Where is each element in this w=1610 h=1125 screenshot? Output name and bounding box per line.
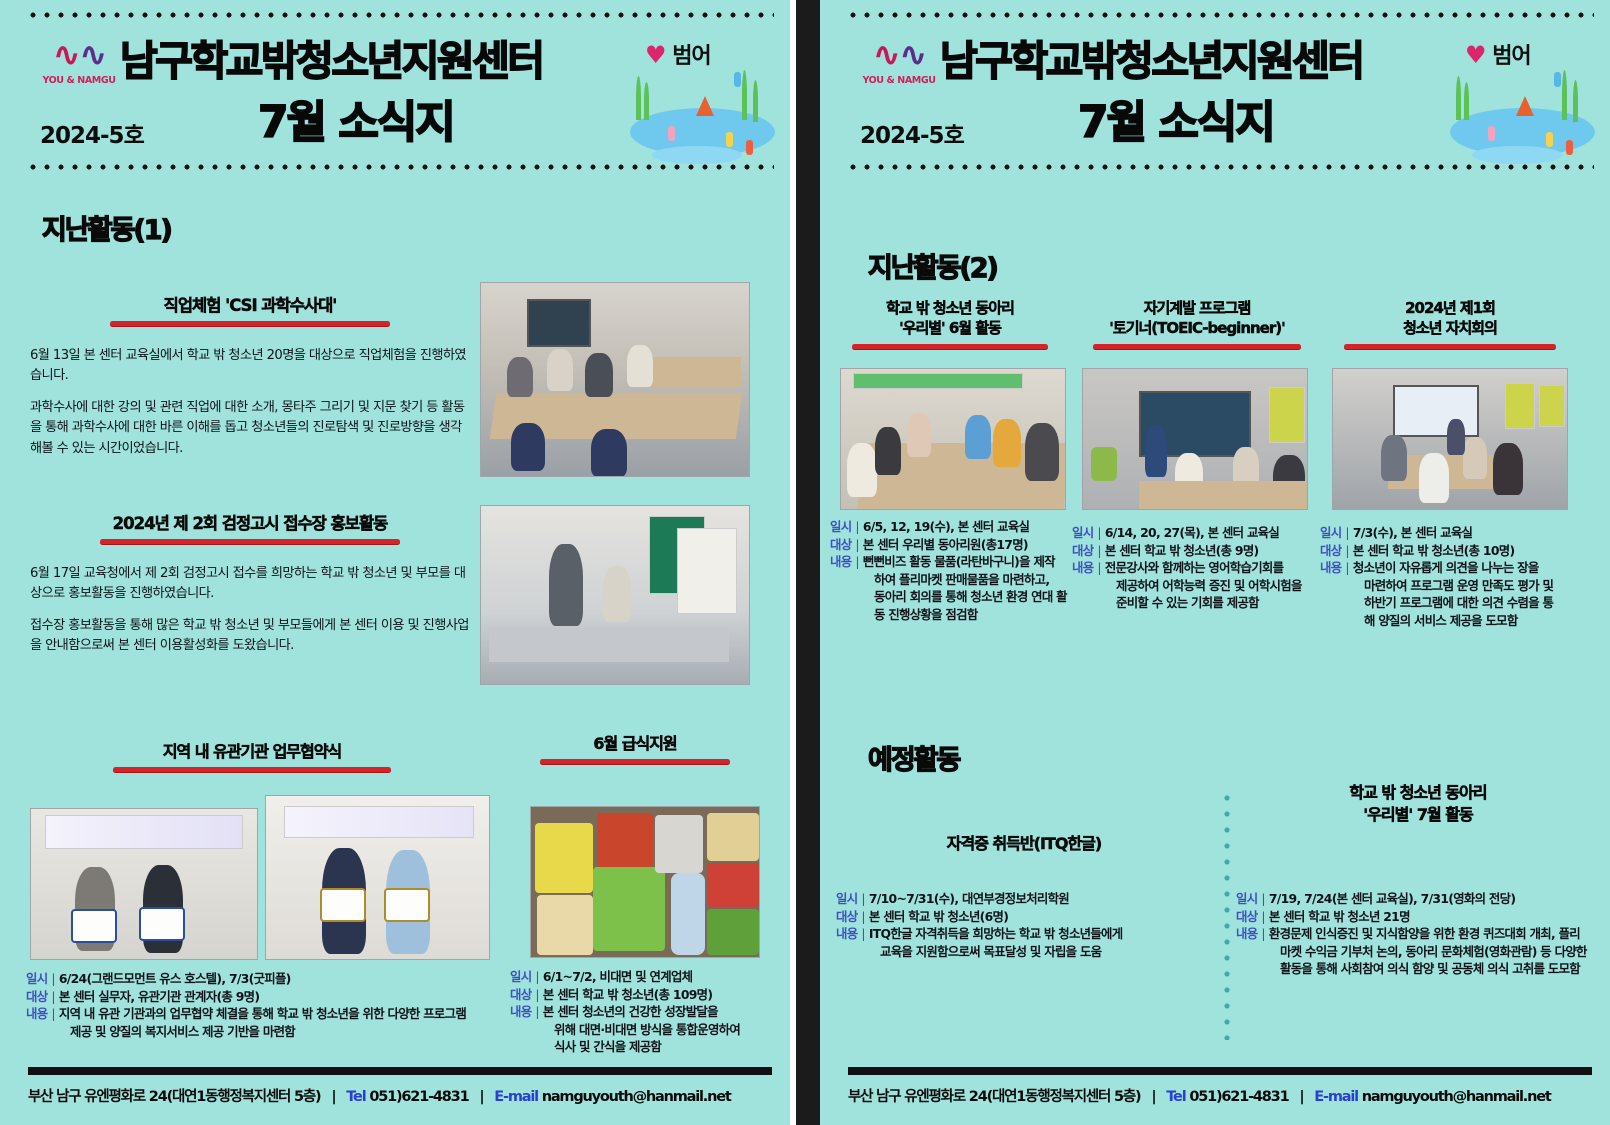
- card-title-line2: 청소년 자치회의: [1320, 318, 1580, 338]
- photo-water-bottle: [671, 873, 705, 955]
- detail-separator: |: [1261, 925, 1264, 943]
- swimmer-icon: [746, 140, 753, 155]
- photo-chair: [1091, 447, 1117, 481]
- logo-subtitle: YOU & NAMGU: [36, 75, 122, 86]
- detail-row-target: 대상 | 본 센터 학교 밖 청소년(6명): [836, 908, 1228, 926]
- detail-content-line: 해 양질의 서비스 제공을 도모함: [1320, 612, 1588, 630]
- past-card-3-photo: [1332, 368, 1568, 510]
- photo-person: [1025, 423, 1059, 481]
- detail-separator: |: [1097, 542, 1100, 560]
- meal-detail: 일시 | 6/1~7/2, 비대면 및 연계업체 대상 | 본 센터 학교 밖 …: [510, 968, 780, 1056]
- detail-row-date: 일시 | 7/19, 7/24(본 센터 교육실), 7/31(영화의 전당): [1236, 890, 1602, 908]
- title-underline: [852, 344, 1048, 349]
- issue-number: 2024-5호: [40, 116, 144, 150]
- section-label-past-activities-2: 지난활동(2): [868, 246, 997, 285]
- article-photo-csi: [480, 282, 750, 477]
- detail-row-date: 일시 | 7/10~7/31(수), 대연부경정보처리학원: [836, 890, 1228, 908]
- past-card-1-photo: [840, 368, 1066, 510]
- detail-key-target: 대상: [1072, 542, 1093, 560]
- past-card-1: 학교 밖 청소년 동아리 '우리별' 6월 활동: [830, 298, 1070, 349]
- card-title: 2024년 제1회 청소년 자치회의: [1320, 298, 1580, 339]
- footer-tel: 051)621-4831: [369, 1089, 468, 1105]
- detail-key-target: 대상: [26, 988, 47, 1006]
- header-dotted-line-top: [846, 12, 1594, 18]
- footer-separator: |: [331, 1089, 335, 1105]
- detail-separator: |: [855, 518, 858, 536]
- article-title: 직업체험 'CSI 과학수사대': [30, 292, 470, 316]
- left-header: ∿∿ YOU & NAMGU 남구학교밖청소년지원센터 7월 소식지 ♥ 범어 …: [0, 0, 790, 196]
- article-paragraph: 6월 17일 교육청에서 제 2회 검정고시 접수를 희망하는 학교 밖 청소년…: [30, 564, 470, 605]
- title-underline: [1093, 344, 1301, 349]
- swimmer-icon: [734, 72, 741, 87]
- photo-person: [1145, 425, 1167, 477]
- detail-separator: |: [51, 988, 54, 1006]
- photo-table: [489, 628, 729, 662]
- grass-icon: [1456, 76, 1461, 120]
- detail-content-line: 하반기 프로그램에 대한 의견 수렴을 통: [1320, 594, 1588, 612]
- detail-row-target: 대상 | 본 센터 학교 밖 청소년(총 109명): [510, 986, 780, 1004]
- card-title-line1: 2024년 제1회: [1320, 298, 1580, 318]
- sailboat-icon: [696, 96, 714, 116]
- photo-person: [549, 544, 583, 626]
- detail-key-content: 내용: [1236, 925, 1257, 943]
- past-card-3: 2024년 제1회 청소년 자치회의: [1320, 298, 1580, 349]
- footer-address: 부산 남구 유엔평화로 24(대연1동행정복지센터 5층): [28, 1089, 320, 1105]
- upcoming-card-2-detail: 일시 | 7/19, 7/24(본 센터 교육실), 7/31(영화의 전당) …: [1236, 890, 1602, 978]
- past-card-2-photo: [1082, 368, 1308, 510]
- detail-separator: |: [1345, 559, 1348, 577]
- card-title: 학교 밖 청소년 동아리 '우리별' 7월 활동: [1240, 782, 1596, 827]
- photo-person: [627, 345, 653, 387]
- detail-row-content: 내용 | 지역 내 유관 기관과의 업무협약 체결을 통해 학교 밖 청소년을 …: [26, 1005, 496, 1023]
- card-title-line2: '우리별' 7월 활동: [1240, 804, 1596, 826]
- detail-value-date: 6/14, 20, 27(목), 본 센터 교육실: [1105, 524, 1279, 542]
- detail-value-target: 본 센터 실무자, 유관기관 관계자(총 9명): [59, 988, 259, 1006]
- card-title: 학교 밖 청소년 동아리 '우리별' 6월 활동: [830, 298, 1070, 339]
- photo-food-item: [707, 863, 759, 907]
- photo-blinds: [1269, 387, 1305, 443]
- detail-separator: |: [861, 925, 864, 943]
- block-title: 지역 내 유관기관 업무협약식: [26, 738, 478, 762]
- detail-value-date: 7/3(수), 본 센터 교육실: [1353, 524, 1472, 542]
- article-gomjung: 2024년 제 2회 검정고시 접수장 홍보활동 6월 17일 교육청에서 제 …: [30, 510, 470, 657]
- photo-banner: [45, 815, 243, 849]
- photo-person: [585, 353, 613, 397]
- sailboat-icon: [1516, 96, 1534, 116]
- upcoming-card-2: 학교 밖 청소년 동아리 '우리별' 7월 활동: [1240, 782, 1596, 827]
- photo-person: [1447, 419, 1465, 455]
- right-footer: 부산 남구 유엔평화로 24(대연1동행정복지센터 5층) | Tel 051)…: [820, 1063, 1610, 1125]
- footer-contact: 부산 남구 유엔평화로 24(대연1동행정복지센터 5층) | Tel 051)…: [848, 1085, 1551, 1106]
- detail-row-target: 대상 | 본 센터 학교 밖 청소년 21명: [1236, 908, 1602, 926]
- article-paragraph: 접수장 홍보활동을 통해 많은 학교 밖 청소년 및 부모들에게 본 센터 이용…: [30, 616, 470, 657]
- detail-separator: |: [1345, 524, 1348, 542]
- article-body: 6월 17일 교육청에서 제 2회 검정고시 접수를 희망하는 학교 밖 청소년…: [30, 564, 470, 657]
- detail-separator: |: [535, 1003, 538, 1021]
- photo-person: [1419, 453, 1449, 503]
- photo-certificate: [320, 888, 366, 922]
- photo-table: [1139, 481, 1308, 510]
- detail-row-content: 내용 | 전문강사와 함께하는 영어학습기회를: [1072, 559, 1324, 577]
- detail-value-content: 뻔뻔비즈 활동 물품(라탄바구니)을 제작: [863, 553, 1055, 571]
- footer-email-label: E-mail: [494, 1089, 538, 1105]
- detail-key-date: 일시: [1320, 524, 1341, 542]
- detail-value-content: ITQ한글 자격취득을 희망하는 학교 밖 청소년들에게: [869, 925, 1123, 943]
- grass-icon: [644, 82, 649, 120]
- detail-content-line: 위해 대면·비대면 방식을 통합운영하여: [510, 1021, 780, 1039]
- photo-food-item: [535, 823, 593, 893]
- page-gutter: [796, 0, 820, 1125]
- right-header: ∿∿ YOU & NAMGU 남구학교밖청소년지원센터 7월 소식지 ♥ 범어 …: [820, 0, 1610, 196]
- meal-photo: [530, 806, 760, 958]
- photo-person: [603, 566, 631, 622]
- right-page: ∿∿ YOU & NAMGU 남구학교밖청소년지원센터 7월 소식지 ♥ 범어 …: [820, 0, 1610, 1125]
- footer-rule: [848, 1067, 1592, 1075]
- detail-separator: |: [535, 986, 538, 1004]
- detail-key-target: 대상: [830, 536, 851, 554]
- detail-value-target: 본 센터 학교 밖 청소년(총 10명): [1353, 542, 1515, 560]
- detail-row-content: 내용 | 환경문제 인식증진 및 지식함양을 위한 환경 퀴즈대회 개최, 플리: [1236, 925, 1602, 943]
- mou-photo-2: [265, 795, 490, 960]
- vertical-dotted-divider: [1224, 790, 1230, 1040]
- section-label-past-activities-1: 지난활동(1): [42, 208, 171, 247]
- detail-value-target: 본 센터 우리별 동아리원(총17명): [863, 536, 1028, 554]
- title-underline: [100, 539, 400, 544]
- detail-content-line: 마켓 수익금 기부처 논의, 동아리 문화체험(영화관람) 등 다양한: [1236, 943, 1602, 961]
- issue-number: 2024-5호: [860, 116, 964, 150]
- grass-icon: [1562, 70, 1567, 120]
- detail-key-content: 내용: [1072, 559, 1093, 577]
- logo-mark-icon: ∿∿: [856, 38, 942, 72]
- title-underline: [540, 759, 730, 764]
- detail-separator: |: [51, 1005, 54, 1023]
- photo-banner: [853, 373, 1023, 389]
- title-underline: [110, 321, 390, 326]
- grass-icon: [636, 76, 641, 120]
- detail-content-line: 교육을 지원함으로써 목표달성 및 자립을 도움: [836, 943, 1228, 961]
- photo-food-item: [593, 867, 665, 951]
- pond-shape-small: [652, 146, 742, 164]
- detail-key-content: 내용: [836, 925, 857, 943]
- footer-separator: |: [1299, 1089, 1303, 1105]
- mou-photo-1: [30, 808, 258, 960]
- detail-value-date: 6/1~7/2, 비대면 및 연계업체: [543, 968, 692, 986]
- article-paragraph: 6월 13일 본 센터 교육실에서 학교 밖 청소년 20명을 대상으로 직업체…: [30, 346, 470, 387]
- footer-email: namguyouth@hanmail.net: [1362, 1089, 1551, 1105]
- title-underline: [113, 767, 391, 772]
- detail-key-content: 내용: [1320, 559, 1341, 577]
- detail-row-content: 내용 | 뻔뻔비즈 활동 물품(라탄바구니)을 제작: [830, 553, 1080, 571]
- detail-row-target: 대상 | 본 센터 학교 밖 청소년(총 10명): [1320, 542, 1588, 560]
- swimmer-icon: [1488, 126, 1495, 141]
- grass-icon: [742, 70, 747, 120]
- photo-food-item: [707, 909, 759, 955]
- detail-content-line: 식사 및 간식을 제공함: [510, 1038, 780, 1056]
- swimmer-icon: [1566, 140, 1573, 155]
- detail-content-line: 제공 및 양질의 복지서비스 제공 기반을 마련함: [26, 1023, 496, 1041]
- namgu-logo: ∿∿ YOU & NAMGU: [856, 38, 942, 86]
- past-card-1-detail: 일시 | 6/5, 12, 19(수), 본 센터 교육실 대상 | 본 센터 …: [830, 518, 1080, 624]
- photo-food-item: [537, 895, 593, 955]
- newsletter-spread: ∿∿ YOU & NAMGU 남구학교밖청소년지원센터 7월 소식지 ♥ 범어 …: [0, 0, 1610, 1125]
- detail-key-date: 일시: [836, 890, 857, 908]
- detail-key-date: 일시: [1236, 890, 1257, 908]
- detail-separator: |: [51, 970, 54, 988]
- photo-poster: [677, 528, 737, 614]
- photo-certificate: [384, 888, 430, 922]
- detail-row-date: 일시 | 6/24(그랜드모먼트 유스 호스텔), 7/3(굿피플): [26, 970, 496, 988]
- detail-separator: |: [1261, 890, 1264, 908]
- block-meal: 6월 급식지원: [500, 730, 770, 764]
- swimmer-icon: [726, 132, 733, 147]
- grass-icon: [1573, 80, 1578, 122]
- page-title: 남구학교밖청소년지원센터: [120, 27, 543, 87]
- detail-key-date: 일시: [830, 518, 851, 536]
- block-title: 6월 급식지원: [500, 730, 770, 754]
- photo-screen: [1393, 385, 1479, 437]
- footer-address: 부산 남구 유엔평화로 24(대연1동행정복지센터 5층): [848, 1089, 1140, 1105]
- swimmer-icon: [668, 126, 675, 141]
- grass-icon: [1464, 82, 1469, 120]
- mou-detail: 일시 | 6/24(그랜드모먼트 유스 호스텔), 7/3(굿피플) 대상 | …: [26, 970, 496, 1040]
- photo-person: [511, 423, 545, 471]
- article-body: 6월 13일 본 센터 교육실에서 학교 밖 청소년 20명을 대상으로 직업체…: [30, 346, 470, 459]
- past-card-2: 자기계발 프로그램 '토기너(TOEIC-beginner)': [1072, 298, 1322, 349]
- summer-pond-illustration: [1442, 48, 1602, 166]
- photo-person: [847, 443, 877, 497]
- section-label-upcoming: 예정활동: [868, 738, 959, 777]
- detail-separator: |: [1261, 908, 1264, 926]
- detail-value-content: 본 센터 청소년의 건강한 성장발달을: [543, 1003, 718, 1021]
- detail-separator: |: [535, 968, 538, 986]
- footer-separator: |: [1151, 1089, 1155, 1105]
- detail-content-line: 준비할 수 있는 기회를 제공함: [1072, 594, 1324, 612]
- past-card-2-detail: 일시 | 6/14, 20, 27(목), 본 센터 교육실 대상 | 본 센터…: [1072, 524, 1324, 612]
- footer-contact: 부산 남구 유엔평화로 24(대연1동행정복지센터 5층) | Tel 051)…: [28, 1085, 731, 1106]
- detail-separator: |: [855, 536, 858, 554]
- footer-separator: |: [479, 1089, 483, 1105]
- photo-food-item: [655, 815, 703, 873]
- photo-person: [993, 419, 1021, 467]
- detail-value-target: 본 센터 학교 밖 청소년(총 109명): [543, 986, 712, 1004]
- card-title-line1: 학교 밖 청소년 동아리: [1240, 782, 1596, 804]
- detail-value-target: 본 센터 학교 밖 청소년(총 9명): [1105, 542, 1259, 560]
- detail-value-date: 6/5, 12, 19(수), 본 센터 교육실: [863, 518, 1029, 536]
- card-title-line2: '토기너(TOEIC-beginner)': [1072, 318, 1322, 338]
- detail-value-target: 본 센터 학교 밖 청소년(6명): [869, 908, 1008, 926]
- detail-content-line: 동 진행상황을 점검함: [830, 606, 1080, 624]
- card-title-line1: 학교 밖 청소년 동아리: [830, 298, 1070, 318]
- article-photo-promotion: [480, 505, 750, 685]
- header-dotted-line-top: [26, 12, 774, 18]
- summer-pond-illustration: [622, 48, 782, 166]
- card-title: 자기계발 프로그램 '토기너(TOEIC-beginner)': [1072, 298, 1322, 339]
- left-page: ∿∿ YOU & NAMGU 남구학교밖청소년지원센터 7월 소식지 ♥ 범어 …: [0, 0, 790, 1125]
- footer-email: namguyouth@hanmail.net: [542, 1089, 731, 1105]
- detail-separator: |: [1097, 559, 1100, 577]
- footer-email-label: E-mail: [1314, 1089, 1358, 1105]
- detail-row-target: 대상 | 본 센터 학교 밖 청소년(총 9명): [1072, 542, 1324, 560]
- detail-value-date: 7/19, 7/24(본 센터 교육실), 7/31(영화의 전당): [1269, 890, 1515, 908]
- card-title-line1: 자기계발 프로그램: [1072, 298, 1322, 318]
- swimmer-icon: [1554, 72, 1561, 87]
- photo-certificate: [71, 909, 117, 943]
- detail-key-target: 대상: [836, 908, 857, 926]
- photo-food-item: [597, 813, 653, 867]
- photo-screen: [527, 299, 591, 347]
- card-title: 자격증 취득반(ITQ한글): [836, 830, 1212, 854]
- detail-key-content: 내용: [830, 553, 851, 571]
- photo-person: [507, 357, 533, 397]
- title-underline: [1344, 344, 1556, 349]
- photo-person: [591, 429, 627, 477]
- past-card-3-detail: 일시 | 7/3(수), 본 센터 교육실 대상 | 본 센터 학교 밖 청소년…: [1320, 524, 1588, 630]
- detail-value-date: 7/10~7/31(수), 대연부경정보처리학원: [869, 890, 1069, 908]
- detail-value-content: 청소년이 자유롭게 의견을 나누는 장을: [1353, 559, 1539, 577]
- detail-row-date: 일시 | 6/14, 20, 27(목), 본 센터 교육실: [1072, 524, 1324, 542]
- page-subtitle: 7월 소식지: [258, 86, 454, 150]
- detail-row-date: 일시 | 7/3(수), 본 센터 교육실: [1320, 524, 1588, 542]
- upcoming-card-1-detail: 일시 | 7/10~7/31(수), 대연부경정보처리학원 대상 | 본 센터 …: [836, 890, 1228, 960]
- detail-content-line: 활동을 통해 사회참여 의식 함양 및 공동체 의식 고취를 도모함: [1236, 960, 1602, 978]
- detail-value-date: 6/24(그랜드모먼트 유스 호스텔), 7/3(굿피플): [59, 970, 291, 988]
- pond-shape-small: [1472, 146, 1562, 164]
- detail-row-date: 일시 | 6/1~7/2, 비대면 및 연계업체: [510, 968, 780, 986]
- detail-separator: |: [861, 890, 864, 908]
- article-csi: 직업체험 'CSI 과학수사대' 6월 13일 본 센터 교육실에서 학교 밖 …: [30, 292, 470, 459]
- photo-person: [1493, 443, 1523, 495]
- photo-person: [907, 413, 931, 457]
- detail-row-content: 내용 | ITQ한글 자격취득을 희망하는 학교 밖 청소년들에게: [836, 925, 1228, 943]
- detail-row-target: 대상 | 본 센터 우리별 동아리원(총17명): [830, 536, 1080, 554]
- article-paragraph: 과학수사에 대한 강의 및 관련 직업에 대한 소개, 몽타주 그리기 및 지문…: [30, 398, 470, 459]
- detail-value-target: 본 센터 학교 밖 청소년 21명: [1269, 908, 1410, 926]
- detail-row-target: 대상 | 본 센터 실무자, 유관기관 관계자(총 9명): [26, 988, 496, 1006]
- detail-separator: |: [861, 908, 864, 926]
- photo-person: [1381, 435, 1407, 481]
- detail-separator: |: [855, 553, 858, 571]
- detail-key-date: 일시: [26, 970, 47, 988]
- detail-value-content: 전문강사와 함께하는 영어학습기회를: [1105, 559, 1283, 577]
- logo-subtitle: YOU & NAMGU: [856, 75, 942, 86]
- photo-person: [1463, 437, 1487, 479]
- photo-person: [875, 427, 901, 475]
- photo-person: [965, 415, 991, 459]
- detail-content-line: 제공하여 어학능력 증진 및 어학시험을: [1072, 577, 1324, 595]
- photo-banner: [284, 806, 474, 838]
- photo-person: [547, 349, 573, 391]
- left-footer: 부산 남구 유엔평화로 24(대연1동행정복지센터 5층) | Tel 051)…: [0, 1063, 790, 1125]
- detail-key-target: 대상: [510, 986, 531, 1004]
- card-title-line2: '우리별' 6월 활동: [830, 318, 1070, 338]
- detail-content-line: 동아리 회의를 통해 청소년 환경 연대 활: [830, 588, 1080, 606]
- detail-key-target: 대상: [1320, 542, 1341, 560]
- article-title: 2024년 제 2회 검정고시 접수장 홍보활동: [30, 510, 470, 534]
- detail-content-line: 하여 플리마켓 판매물품을 마련하고,: [830, 571, 1080, 589]
- grass-icon: [753, 80, 758, 122]
- detail-key-target: 대상: [1236, 908, 1257, 926]
- footer-tel-label: Tel: [346, 1089, 365, 1105]
- upcoming-card-1: 자격증 취득반(ITQ한글): [836, 830, 1212, 854]
- detail-key-date: 일시: [510, 968, 531, 986]
- swimmer-icon: [1546, 132, 1553, 147]
- logo-mark-icon: ∿∿: [36, 38, 122, 72]
- photo-food-item: [707, 813, 759, 861]
- detail-key-date: 일시: [1072, 524, 1093, 542]
- page-title: 남구학교밖청소년지원센터: [940, 27, 1363, 87]
- detail-row-date: 일시 | 6/5, 12, 19(수), 본 센터 교육실: [830, 518, 1080, 536]
- detail-row-content: 내용 | 본 센터 청소년의 건강한 성장발달을: [510, 1003, 780, 1021]
- detail-row-content: 내용 | 청소년이 자유롭게 의견을 나누는 장을: [1320, 559, 1588, 577]
- detail-separator: |: [1345, 542, 1348, 560]
- detail-content-line: 마련하여 프로그램 운영 만족도 평가 및: [1320, 577, 1588, 595]
- footer-tel-label: Tel: [1166, 1089, 1185, 1105]
- detail-value-content: 환경문제 인식증진 및 지식함양을 위한 환경 퀴즈대회 개최, 플리: [1269, 925, 1580, 943]
- footer-tel: 051)621-4831: [1189, 1089, 1288, 1105]
- photo-blinds: [1505, 383, 1535, 429]
- page-subtitle: 7월 소식지: [1078, 86, 1274, 150]
- detail-key-content: 내용: [510, 1003, 531, 1021]
- detail-key-content: 내용: [26, 1005, 47, 1023]
- footer-rule: [28, 1067, 772, 1075]
- photo-blinds: [1539, 385, 1565, 427]
- block-mou: 지역 내 유관기관 업무협약식: [26, 738, 478, 772]
- detail-value-content: 지역 내 유관 기관과의 업무협약 체결을 통해 학교 밖 청소년을 위한 다양…: [59, 1005, 466, 1023]
- namgu-logo: ∿∿ YOU & NAMGU: [36, 38, 122, 86]
- detail-separator: |: [1097, 524, 1100, 542]
- photo-certificate: [139, 907, 185, 941]
